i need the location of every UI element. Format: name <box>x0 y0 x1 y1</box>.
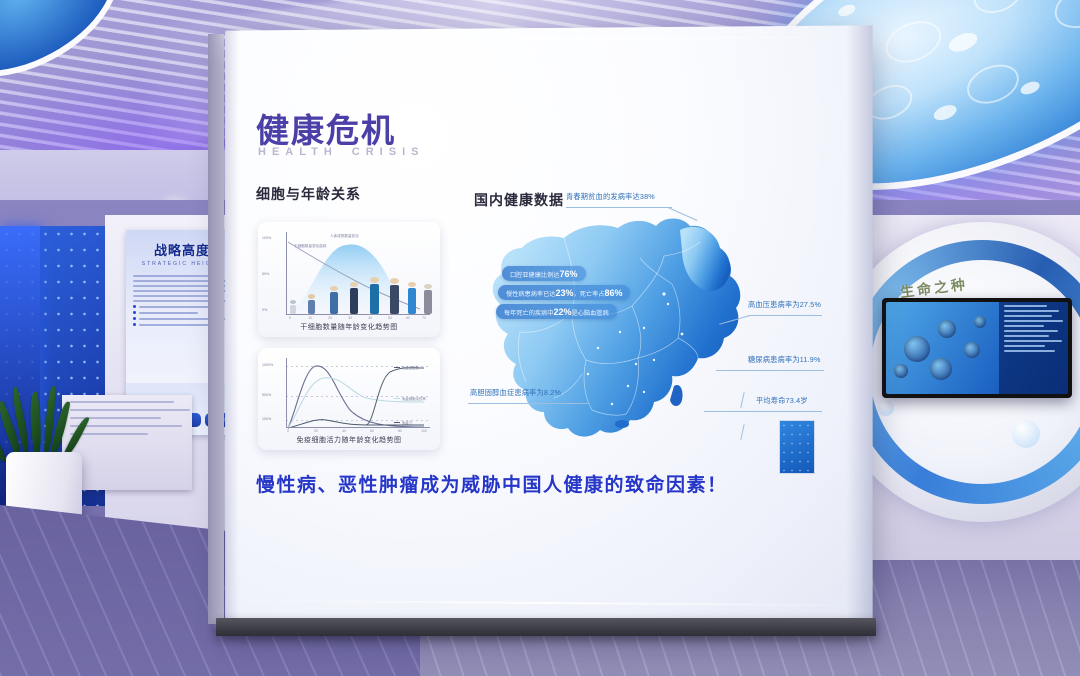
figure-person <box>350 282 358 314</box>
figure-person <box>330 286 338 314</box>
leader-line-anemia <box>566 207 672 208</box>
x-tick-label: 30 <box>348 316 352 320</box>
section-title-health-data: 国内健康数据 <box>474 190 564 210</box>
immune-cell-plot: 1000% 500% 100% 免疫细胞数 免疫细胞活性率 免疫力 0 20 4… <box>274 358 430 428</box>
figure-person <box>424 284 432 314</box>
china-map-svg <box>468 208 768 458</box>
map-pill-cardio: 每年死亡的疾病中22%是心脑血管病 <box>496 304 617 319</box>
taiwan-inset-box <box>779 420 815 474</box>
page-title: 健康危机 <box>256 104 396 152</box>
legend-entry: 免疫细胞活性率 <box>394 396 426 401</box>
y-tick-label: 500% <box>262 393 271 397</box>
page-subtitle: HEALTHCRISIS <box>258 146 424 158</box>
y-axis <box>286 232 287 315</box>
stem-cell-plot: 100% 50% 0% 人体成熟数量变化 干细胞数量变化曲线 <box>274 232 430 315</box>
life-seed-monitor[interactable] <box>882 298 1072 398</box>
x-axis <box>286 314 430 315</box>
monitor-screen <box>886 302 1068 394</box>
exhibit-wall-base <box>216 618 876 636</box>
x-axis <box>286 427 430 428</box>
x-tick-label: 20 <box>314 429 318 433</box>
figure-person <box>370 277 379 314</box>
line-curve-label: 干细胞数量变化曲线 <box>294 244 326 249</box>
monitor-sidebar <box>999 302 1068 394</box>
section-title-cells-age: 细胞与年龄关系 <box>256 184 361 204</box>
x-tick-label: 40 <box>368 316 372 320</box>
callout-hypertension: 高血压患病率为27.5% <box>748 300 821 310</box>
area-curve-label: 人体成熟数量变化 <box>330 234 359 239</box>
figure-person <box>408 282 416 314</box>
chart-caption-stem-cells: 干细胞数量随年龄变化趋势图 <box>258 322 440 332</box>
figure-person <box>290 300 296 314</box>
legend-entry: 免疫细胞数 <box>394 365 419 370</box>
leader-line-life-expectancy <box>704 411 822 412</box>
y-tick-label: 100% <box>262 236 271 240</box>
subtitle-right: CRISIS <box>352 146 425 158</box>
exhibit-top-light-strip <box>233 35 865 42</box>
x-tick-label: 100 <box>421 429 427 433</box>
exhibit-wall-side <box>208 34 224 624</box>
x-tick-label: 0 <box>289 316 291 320</box>
x-tick-label: 0 <box>287 429 289 433</box>
y-tick-label: 50% <box>262 272 269 276</box>
chart-caption-immune-cells: 免疫细胞活力随年龄变化趋势图 <box>258 435 440 445</box>
legend-entry: 免疫力 <box>394 420 412 425</box>
callout-cholesterol: 高胆固醇血症患病率为8.2% <box>470 388 561 398</box>
chart-card-stem-cells: 100% 50% 0% 人体成熟数量变化 干细胞数量变化曲线 <box>258 222 440 337</box>
map-pill-oral: 口腔亚健康比例达76% <box>502 266 586 281</box>
y-tick-label: 1000% <box>262 363 273 367</box>
y-axis <box>286 358 287 428</box>
x-tick-label: 40 <box>342 429 346 433</box>
x-tick-label: 20 <box>328 316 332 320</box>
exhibition-hall-photo: 战略高度 STRATEGIC HEIGHT 干细胞 CAR-T 基因检测 <box>0 0 1080 676</box>
leader-line-diabetes <box>716 370 824 371</box>
bubble-decor <box>1012 420 1040 448</box>
bubble-decor <box>878 400 894 416</box>
x-tick-label: 80 <box>398 429 402 433</box>
y-tick-label: 0% <box>262 308 267 312</box>
chart-card-immune-cells: 1000% 500% 100% 免疫细胞数 免疫细胞活性率 免疫力 0 20 4… <box>258 348 440 450</box>
figure-person <box>308 294 315 314</box>
china-map-figure: 口腔亚健康比例达76% 慢性病患病率已达23%，死亡率占86% 每年死亡的疾病中… <box>468 208 768 458</box>
x-tick-label: 70 <box>422 316 426 320</box>
x-tick-label: 60 <box>406 316 410 320</box>
y-tick-label: 100% <box>262 417 271 421</box>
leader-line-cholesterol <box>468 403 588 404</box>
figure-person <box>390 278 399 314</box>
x-tick-label: 10 <box>308 316 312 320</box>
leader-line-hypertension <box>748 315 822 316</box>
subtitle-left: HEALTH <box>258 146 338 158</box>
map-pill-chronic: 慢性病患病率已达23%，死亡率占86% <box>498 285 630 300</box>
callout-diabetes: 糖尿病患病率为11.9% <box>748 355 821 365</box>
x-tick-label: 50 <box>388 316 392 320</box>
exhibit-bottom-light-strip <box>233 600 865 607</box>
x-tick-label: 60 <box>370 429 374 433</box>
callout-life-expectancy: 平均寿命73.4岁 <box>756 396 808 406</box>
exhibit-headline: 慢性病、恶性肿瘤成为威胁中国人健康的致命因素！ <box>256 470 728 497</box>
callout-anemia: 青春期贫血的发病率达38% <box>566 192 655 202</box>
